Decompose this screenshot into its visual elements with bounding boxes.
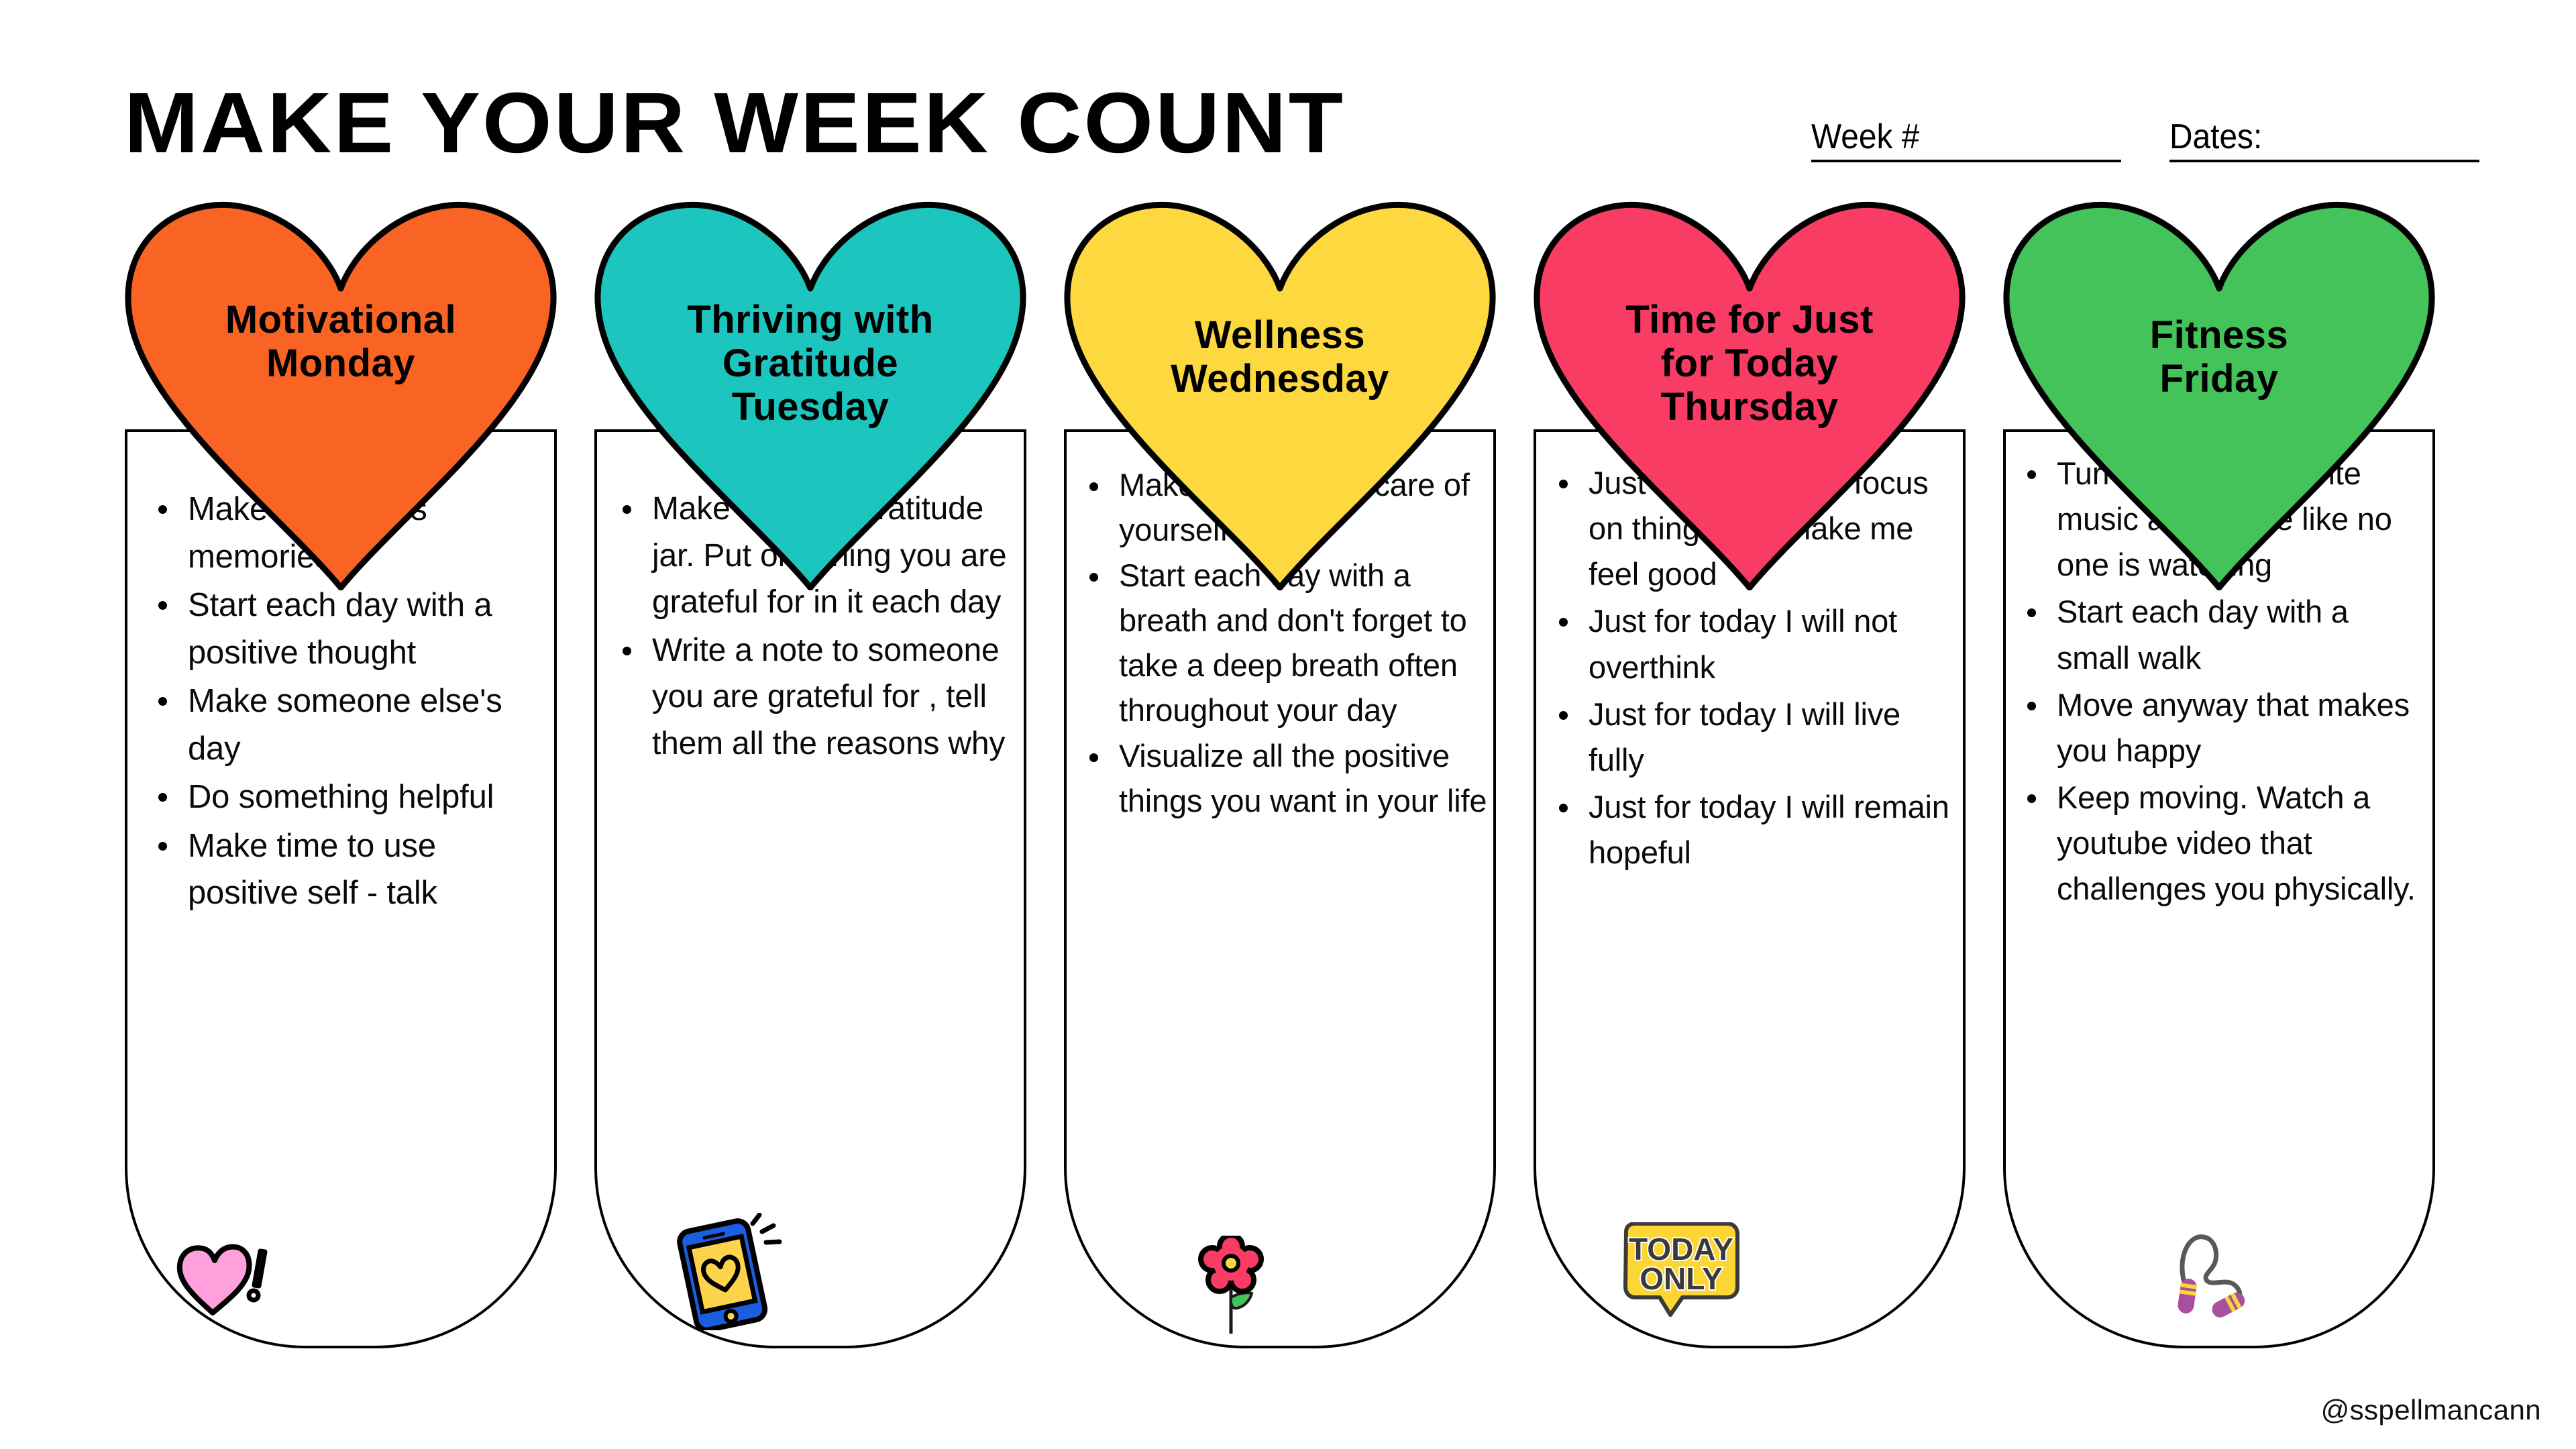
heading-monday: Motivational Monday <box>114 299 568 386</box>
heading-line: Gratitude <box>614 342 1006 386</box>
list-item: Visualize all the positive things you wa… <box>1084 734 1488 823</box>
week-number-field[interactable]: Week # <box>1811 119 2121 162</box>
header-meta-fields: Week # Dates: <box>1811 119 2479 162</box>
list-item: Keep moving. Watch a youtube video that … <box>2022 775 2427 912</box>
list-item: Just for today I will live fully <box>1554 692 1957 783</box>
bullet-list-tuesday: Make a virtual gratitude jar. Put one th… <box>617 486 1018 769</box>
heading-friday: Fitness Friday <box>1992 314 2446 401</box>
page-header: MAKE YOUR WEEK COUNT Week # Dates: <box>0 0 2576 201</box>
list-item: Start each day with a positive thought <box>153 582 549 676</box>
list-item: Start each day with a breath and don't f… <box>1084 553 1488 733</box>
column-time-for-just-for-today-thursday: Time for Just for Today Thursday Just fo… <box>1523 201 1976 1368</box>
list-item: Just for today I will remain hopeful <box>1554 784 1957 875</box>
heading-line: Motivational <box>145 299 537 342</box>
list-item: Do something helpful <box>153 773 549 821</box>
column-wellness-wednesday: Wellness Wednesday Make time to take car… <box>1053 201 1507 1368</box>
heading-tuesday: Thriving with Gratitude Tuesday <box>584 299 1037 429</box>
list-item: Start each day with a small walk <box>2022 589 2427 680</box>
heading-line: Time for Just <box>1554 299 1945 342</box>
heading-line: Friday <box>2023 358 2415 401</box>
list-item: Make time to take care of yourself <box>1084 463 1488 552</box>
dates-label: Dates: <box>2169 119 2262 154</box>
heading-line: Wellness <box>1084 314 1476 358</box>
list-item: Make marvelous memories <box>153 486 549 580</box>
week-number-label: Week # <box>1811 119 1919 154</box>
column-fitness-friday: Fitness Friday Turn on your favourite mu… <box>1992 201 2446 1368</box>
list-item: Make time to use positive self - talk <box>153 822 549 917</box>
bullet-list-thursday: Just for today I will focus on things th… <box>1554 460 1957 877</box>
bullet-list-monday: Make marvelous memories Start each day w… <box>153 486 549 918</box>
heading-line: Thriving with <box>614 299 1006 342</box>
heading-wednesday: Wellness Wednesday <box>1053 314 1507 401</box>
dates-field[interactable]: Dates: <box>2169 119 2479 162</box>
heading-line: Wednesday <box>1084 358 1476 401</box>
heading-line: Monday <box>145 342 537 386</box>
worksheet-page: MAKE YOUR WEEK COUNT Week # Dates: Motiv… <box>0 0 2576 1449</box>
author-handle: @sspellmancann <box>2321 1394 2541 1426</box>
day-columns: Motivational Monday Make marvelous memor… <box>114 201 2462 1368</box>
heading-line: for Today <box>1554 342 1945 386</box>
list-item: Turn on your favourite music and dance l… <box>2022 451 2427 588</box>
list-item: Just for today I will not overthink <box>1554 598 1957 690</box>
heading-line: Fitness <box>2023 314 2415 358</box>
heading-line: Tuesday <box>614 386 1006 429</box>
heading-line: Thursday <box>1554 386 1945 429</box>
list-item: Make a virtual gratitude jar. Put one th… <box>617 486 1018 626</box>
column-thriving-with-gratitude-tuesday: Thriving with Gratitude Tuesday Make a v… <box>584 201 1037 1368</box>
column-motivational-monday: Motivational Monday Make marvelous memor… <box>114 201 568 1368</box>
page-title: MAKE YOUR WEEK COUNT <box>124 80 1345 166</box>
bullet-list-friday: Turn on your favourite music and dance l… <box>2022 451 2427 913</box>
bullet-list-wednesday: Make time to take care of yourself Start… <box>1084 463 1488 825</box>
heading-thursday: Time for Just for Today Thursday <box>1523 299 1976 429</box>
list-item: Write a note to someone you are grateful… <box>617 627 1018 767</box>
list-item: Just for today I will focus on things th… <box>1554 460 1957 597</box>
list-item: Move anyway that makes you happy <box>2022 682 2427 773</box>
list-item: Make someone else's day <box>153 678 549 772</box>
